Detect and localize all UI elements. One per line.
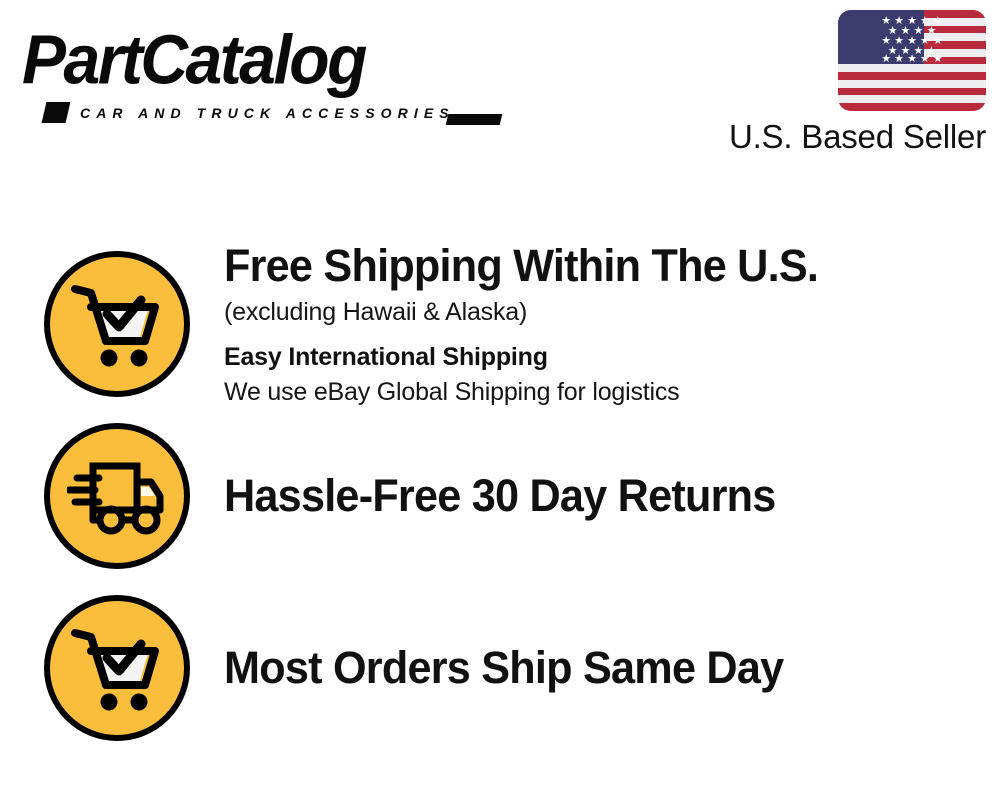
us-flag-icon: ★ ★ ★ ★ ★ ★ ★ ★ ★ ★ ★ ★ ★ ★ ★ ★ ★ ★ ★ ★ …	[838, 10, 986, 111]
feature-text-block: Free Shipping Within The U.S. (excluding…	[224, 240, 1000, 409]
feature-headline: Free Shipping Within The U.S.	[224, 240, 950, 292]
feature-text-block: Hassle-Free 30 Day Returns	[224, 470, 1000, 522]
feature-row: Hassle-Free 30 Day Returns	[0, 410, 1000, 582]
brand-wordmark: PartCatalog	[22, 18, 365, 101]
shopping-cart-check-icon	[44, 595, 190, 741]
feature-note: We use eBay Global Shipping for logistic…	[224, 375, 980, 409]
delivery-truck-icon	[44, 423, 190, 569]
promotional-banner: PartCatalog CAR AND TRUCK ACCESSORIES ★ …	[0, 0, 1000, 800]
banner-header: PartCatalog CAR AND TRUCK ACCESSORIES ★ …	[0, 0, 1000, 170]
feature-subhead: Easy International Shipping	[224, 339, 980, 375]
logo-flourish-left	[42, 102, 71, 123]
feature-subline: (excluding Hawaii & Alaska)	[224, 294, 980, 330]
brand-logo: PartCatalog CAR AND TRUCK ACCESSORIES	[22, 18, 492, 118]
feature-row: Free Shipping Within The U.S. (excluding…	[0, 238, 1000, 410]
feature-row: Most Orders Ship Same Day	[0, 582, 1000, 754]
seller-badge: ★ ★ ★ ★ ★ ★ ★ ★ ★ ★ ★ ★ ★ ★ ★ ★ ★ ★ ★ ★ …	[686, 10, 986, 157]
feature-headline: Most Orders Ship Same Day	[224, 642, 950, 694]
seller-label: U.S. Based Seller	[686, 117, 986, 157]
feature-headline: Hassle-Free 30 Day Returns	[224, 470, 950, 522]
feature-text-block: Most Orders Ship Same Day	[224, 642, 1000, 694]
feature-list: Free Shipping Within The U.S. (excluding…	[0, 238, 1000, 754]
brand-tagline: CAR AND TRUCK ACCESSORIES	[80, 105, 455, 121]
shopping-cart-check-icon	[44, 251, 190, 397]
